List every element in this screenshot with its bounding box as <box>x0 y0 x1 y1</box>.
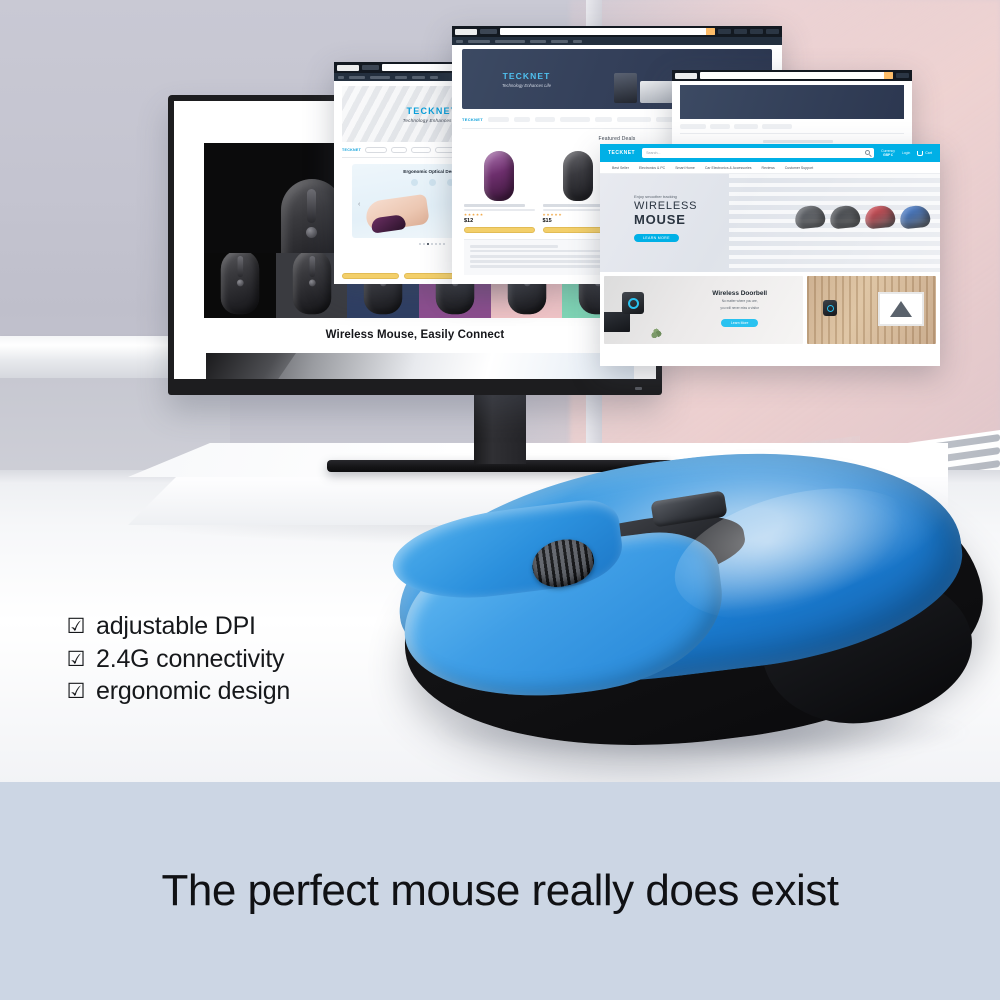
hero-mouse-thumbnail[interactable] <box>829 204 861 229</box>
feature-item: ☑adjustable DPI <box>66 612 406 642</box>
blue-wireless-mouse-product <box>382 452 1000 782</box>
monitor-lower-image <box>206 353 634 379</box>
feature-label: ergonomic design <box>96 677 290 707</box>
product-card[interactable]: $12 <box>464 148 535 233</box>
product-thumbnail <box>464 148 535 204</box>
store-nav-pill-3[interactable] <box>411 147 431 153</box>
store-brand-name: TECKNET <box>407 106 458 116</box>
headline-band: The perfect mouse really does exist <box>0 782 1000 1000</box>
checkbox-checked-icon: ☑ <box>66 681 86 702</box>
nav-item-car-electronics[interactable]: Car Electronics & Accessories <box>705 166 752 170</box>
tecknet-search-input[interactable]: Search... <box>642 148 874 158</box>
feature-label: 2.4G connectivity <box>96 645 284 675</box>
feature-item: ☑ergonomic design <box>66 677 406 707</box>
product-banner-stage: Blue Wireless Mouse, Easily Connect <box>0 0 1000 1000</box>
amazon-header-bar <box>672 70 912 81</box>
storefront-brand-tagline: Technology Enhances Life <box>502 83 551 88</box>
blind-slat <box>729 255 940 259</box>
nav-item-best-seller[interactable]: Best Seller <box>612 166 629 170</box>
hero-eyebrow: Enjoy smoother tracking <box>634 194 697 199</box>
cart-icon <box>917 151 923 156</box>
carousel-prev-icon[interactable]: ‹ <box>358 201 360 208</box>
doorbell-promo-panel[interactable]: Wireless Doorbell No matter where you ar… <box>604 276 803 344</box>
blind-slat <box>729 183 940 187</box>
currency-value: GBP £ <box>881 153 895 157</box>
nav-item-reviews[interactable]: Reviews <box>762 166 775 170</box>
hero-learn-more-button[interactable]: LEARN MORE <box>634 234 679 242</box>
orders-link[interactable] <box>750 29 763 34</box>
search-input[interactable] <box>700 72 893 79</box>
blind-slat <box>729 201 940 205</box>
language-selector[interactable] <box>718 29 731 34</box>
blind-slat <box>729 174 940 178</box>
wall-scene-panel[interactable] <box>807 276 936 344</box>
storefront-hero-text: TECKNET Technology Enhances Life <box>502 71 551 88</box>
tv-prop-icon <box>604 312 630 332</box>
login-link[interactable]: Login <box>902 151 910 155</box>
store-nav-pill-2[interactable] <box>391 147 407 153</box>
headline-text: The perfect mouse really does exist <box>161 866 838 916</box>
hero-line-2: MOUSE <box>634 213 697 227</box>
product-title-lines <box>464 204 535 211</box>
search-icon[interactable] <box>865 150 870 155</box>
hero-text-block: Enjoy smoother tracking WIRELESS MOUSE L… <box>634 194 697 244</box>
nav-item-smart-home[interactable]: Smart Home <box>675 166 695 170</box>
search-input[interactable] <box>500 28 715 35</box>
promo-line-1: No matter where you are, <box>684 299 795 304</box>
store-nav-logo: TECKNET <box>342 148 361 152</box>
plant-decoration-icon <box>648 324 664 338</box>
feature-item: ☑2.4G connectivity <box>66 645 406 675</box>
amazon-header-bar <box>452 26 782 37</box>
hand-on-mouse-illustration <box>364 194 430 232</box>
rating-stars-icon <box>464 213 535 216</box>
product-price: $12 <box>464 218 535 224</box>
hero-mouse-thumbnail[interactable] <box>899 204 931 229</box>
amazon-logo-icon <box>337 65 359 71</box>
checkbox-checked-icon: ☑ <box>66 616 86 637</box>
checkbox-checked-icon: ☑ <box>66 649 86 670</box>
monitor-power-led-icon <box>635 387 642 390</box>
promo-line-2: you will never miss a visitor <box>684 306 795 311</box>
hero-line-1: WIRELESS <box>634 201 697 213</box>
amazon-logo-icon <box>675 73 697 79</box>
tecknet-header: TECKNET Search... Currency GBP £ Login C… <box>600 144 940 162</box>
nav-item-customer-support[interactable]: Customer Support <box>785 166 813 170</box>
promo-learn-more-button[interactable]: Learn More <box>721 319 758 327</box>
cart-button[interactable]: Cart <box>917 151 932 156</box>
detail-nav-row[interactable] <box>680 124 904 134</box>
tecknet-hero: Enjoy smoother tracking WIRELESS MOUSE L… <box>600 174 940 272</box>
delivery-location-icon <box>362 65 379 70</box>
delivery-location-icon <box>480 29 497 34</box>
doorbell-device-icon <box>823 300 837 316</box>
cart-icon[interactable] <box>766 29 779 34</box>
doorbell-device-icon <box>622 292 644 314</box>
blind-slat <box>729 246 940 250</box>
hero-mouse-lineup <box>795 206 930 228</box>
hero-mouse-thumbnail[interactable] <box>794 204 826 229</box>
storefront-nav-logo: TECKNET <box>462 117 483 122</box>
cart-icon[interactable] <box>896 73 909 78</box>
tecknet-nav[interactable]: Best Seller Electronics & PC Smart Home … <box>600 162 940 174</box>
storefront-brand-name: TECKNET <box>502 71 551 81</box>
blind-slat <box>729 264 940 268</box>
cart-label: Cart <box>925 151 932 155</box>
feature-list: ☑adjustable DPI☑2.4G connectivity☑ergono… <box>66 612 406 707</box>
color-swatch[interactable] <box>204 253 276 318</box>
hero-mouse-thumbnail[interactable] <box>864 204 896 229</box>
store-promo-feature-icons <box>411 179 454 186</box>
nav-item-electronics-pc[interactable]: Electronics & PC <box>639 166 665 170</box>
picture-frame-icon <box>878 292 924 326</box>
store-nav-pill-1[interactable] <box>365 147 387 153</box>
currency-selector[interactable]: Currency GBP £ <box>881 149 895 158</box>
monitor-caption: Wireless Mouse, Easily Connect <box>174 329 656 341</box>
detail-hero-banner <box>680 85 904 119</box>
promo-title: Wireless Doorbell <box>684 290 795 297</box>
amazon-subnav[interactable] <box>452 37 782 45</box>
blind-slat <box>729 237 940 241</box>
amazon-logo-icon <box>455 29 477 35</box>
blind-slat <box>729 192 940 196</box>
search-placeholder: Search... <box>646 151 660 155</box>
doorbell-promo-text: Wireless Doorbell No matter where you ar… <box>684 290 795 329</box>
account-menu[interactable] <box>734 29 747 34</box>
browser-window-tecknet-site[interactable]: TECKNET Search... Currency GBP £ Login C… <box>600 144 940 366</box>
feature-label: adjustable DPI <box>96 612 256 642</box>
tecknet-logo[interactable]: TECKNET <box>608 150 635 156</box>
add-to-cart-button[interactable] <box>464 227 535 233</box>
tecknet-promo-row: Wireless Doorbell No matter where you ar… <box>600 272 940 348</box>
